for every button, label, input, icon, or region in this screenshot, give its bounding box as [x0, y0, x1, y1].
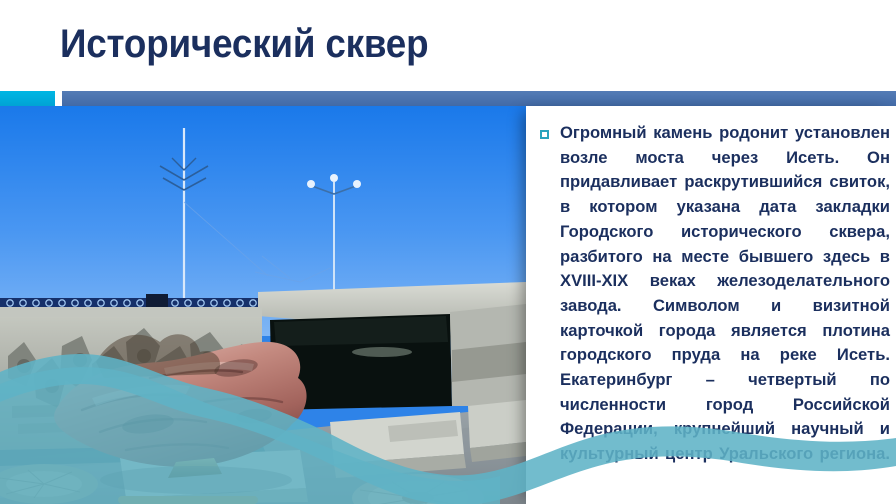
accent-bar-cyan: [0, 91, 55, 106]
list-item: Огромный камень родонит установлен возле…: [540, 121, 890, 492]
bronze-scroll: [118, 496, 258, 504]
content-panel: Огромный камень родонит установлен возле…: [526, 106, 896, 504]
page-title: Исторический сквер: [60, 22, 428, 67]
slide: Исторический сквер: [0, 0, 896, 504]
title-zone: Исторический сквер: [0, 0, 896, 91]
square-bullet-icon: [540, 130, 549, 139]
bullet-list: Огромный камень родонит установлен возле…: [540, 121, 890, 492]
body-paragraph: Огромный камень родонит установлен возле…: [560, 121, 890, 492]
accent-bar-steel: [62, 91, 896, 106]
photo-historical-square: [0, 106, 526, 504]
photo-illustration: [0, 106, 526, 504]
